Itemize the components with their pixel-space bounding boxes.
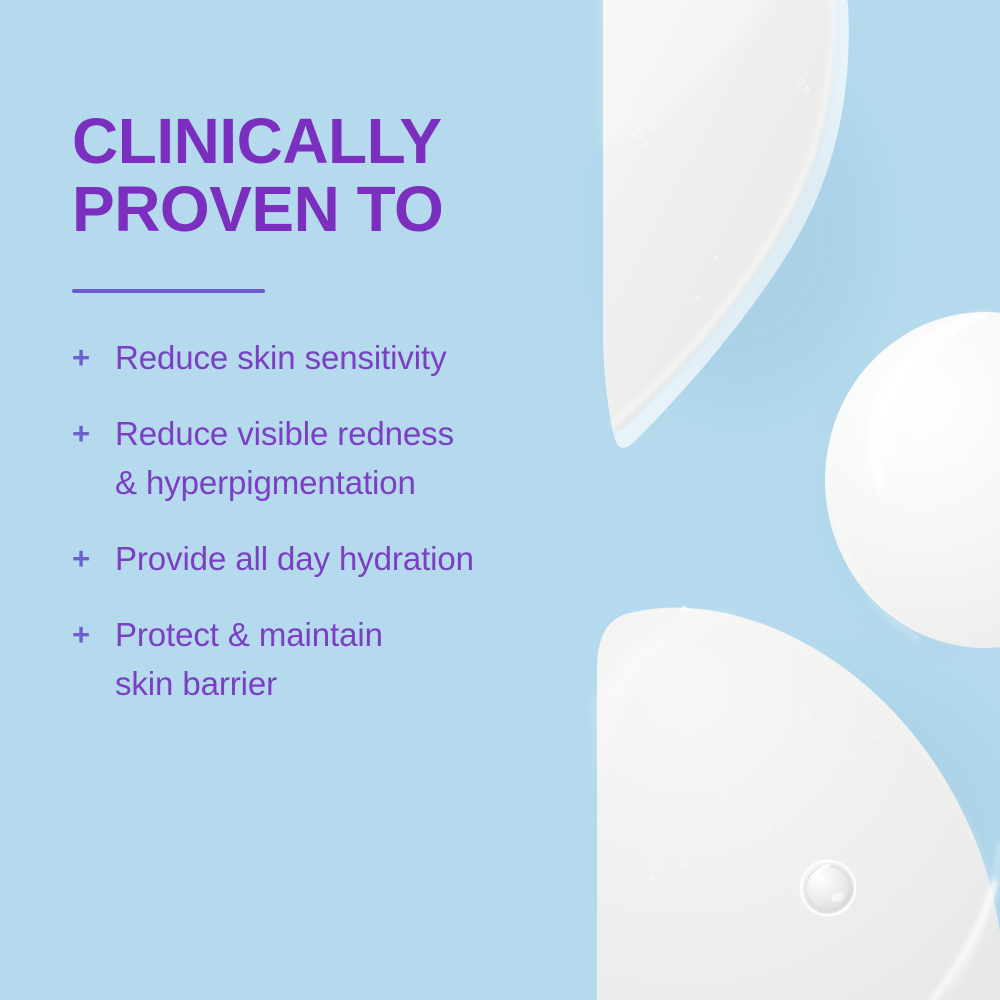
- plus-icon: +: [72, 610, 98, 659]
- list-item: + Protect & maintain skin barrier: [70, 610, 590, 708]
- top-cream-swatch: [603, 0, 849, 448]
- benefit-1-line-1: Reduce skin sensitivity: [115, 333, 590, 382]
- headline-line-2: PROVEN TO: [72, 175, 572, 243]
- benefits-list: + Reduce skin sensitivity + Reduce visib…: [70, 333, 590, 708]
- headline-line-1: CLINICALLY: [72, 107, 572, 175]
- right-serum-droplet: [825, 312, 1000, 648]
- list-item: + Reduce skin sensitivity: [70, 333, 590, 382]
- text-column: CLINICALLY PROVEN TO + Reduce skin sensi…: [0, 0, 600, 1000]
- micro-bubble: [801, 861, 855, 915]
- list-item: + Reduce visible redness & hyperpigmenta…: [70, 409, 590, 507]
- benefit-4-line-1: Protect & maintain: [115, 610, 590, 659]
- benefit-3-line-1: Provide all day hydration: [115, 534, 590, 583]
- benefit-4-line-2: skin barrier: [115, 659, 590, 708]
- benefit-2-line-1: Reduce visible redness: [115, 409, 590, 458]
- artwork-shadows: [570, 15, 1000, 1000]
- list-item: + Provide all day hydration: [70, 534, 590, 583]
- bottom-cream-pool: [597, 606, 1000, 1000]
- plus-icon: +: [72, 333, 98, 382]
- benefit-2-line-2: & hyperpigmentation: [115, 458, 590, 507]
- title-divider: [72, 289, 265, 293]
- plus-icon: +: [72, 409, 98, 458]
- plus-icon: +: [72, 534, 98, 583]
- poster-canvas: CLINICALLY PROVEN TO + Reduce skin sensi…: [0, 0, 1000, 1000]
- page-title: CLINICALLY PROVEN TO: [72, 107, 572, 243]
